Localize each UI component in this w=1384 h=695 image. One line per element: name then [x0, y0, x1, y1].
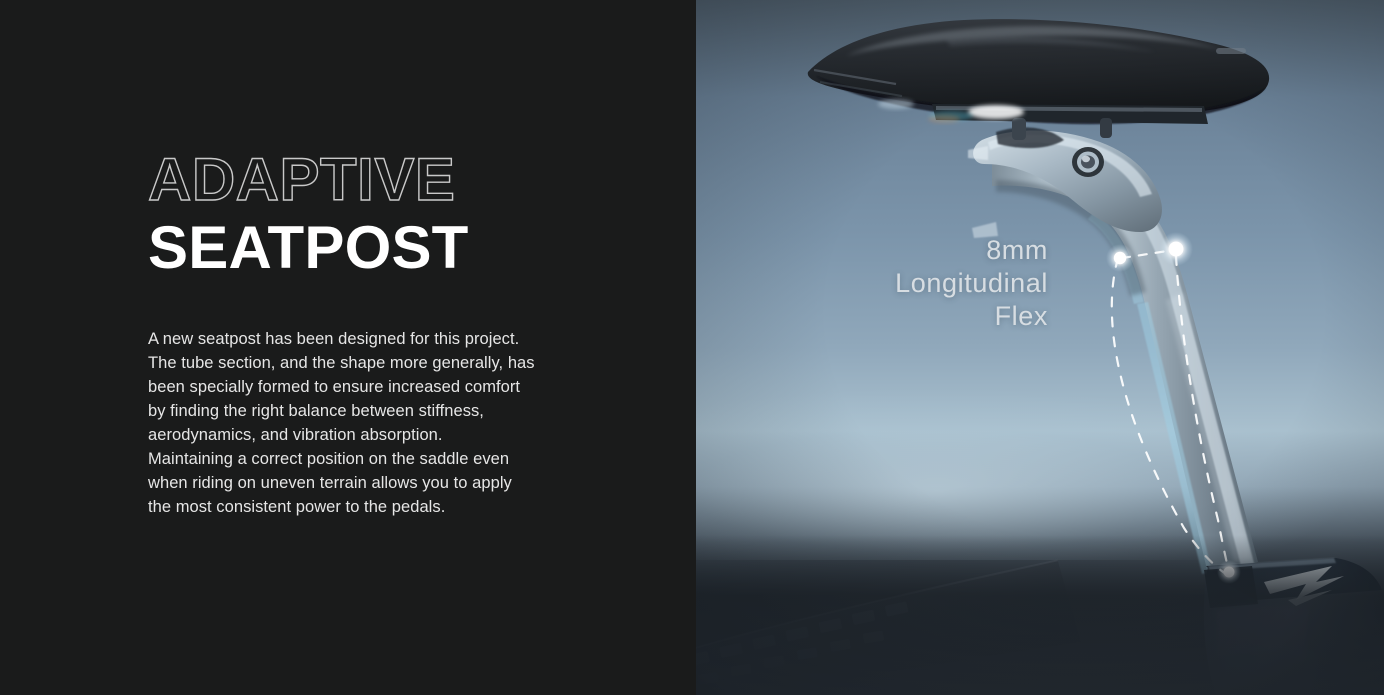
paragraph-line: when riding on uneven terrain allows you… — [148, 471, 614, 495]
bicycle-product-render — [696, 0, 1384, 695]
paragraph-line: aerodynamics, and vibration absorption. — [148, 423, 614, 447]
rail-clamp-bolt — [1100, 118, 1112, 138]
paragraph-line: been specially formed to ensure increase… — [148, 375, 614, 399]
flex-anchor-node — [1224, 567, 1235, 578]
rail-clamp-bolt — [1012, 118, 1026, 140]
paragraph-line: The tube section, and the shape more gen… — [148, 351, 614, 375]
description-paragraph: A new seatpost has been designed for thi… — [148, 327, 614, 519]
clamp-bolt — [1072, 147, 1104, 177]
paragraph-line: the most consistent power to the pedals. — [148, 495, 614, 519]
paragraph-line: A new seatpost has been designed for thi… — [148, 327, 614, 351]
title-line-solid: SEATPOST — [148, 218, 618, 278]
clamp-specular-flare — [968, 105, 1024, 119]
flex-node-rest — [1114, 252, 1126, 264]
page-title: ADAPTIVE SEATPOST — [148, 150, 618, 278]
saddle-brand-mark — [1216, 48, 1246, 54]
paragraph-line: by finding the right balance between sti… — [148, 399, 614, 423]
paragraph-line: Maintaining a correct position on the sa… — [148, 447, 614, 471]
left-text-panel: ADAPTIVE SEATPOST A new seatpost has bee… — [0, 0, 696, 695]
product-feature-slide: ADAPTIVE SEATPOST A new seatpost has bee… — [0, 0, 1384, 695]
right-image-panel: 8mm Longitudinal Flex — [696, 0, 1384, 695]
flex-node-deflected — [1169, 242, 1184, 257]
title-line-outline: ADAPTIVE — [148, 150, 618, 210]
